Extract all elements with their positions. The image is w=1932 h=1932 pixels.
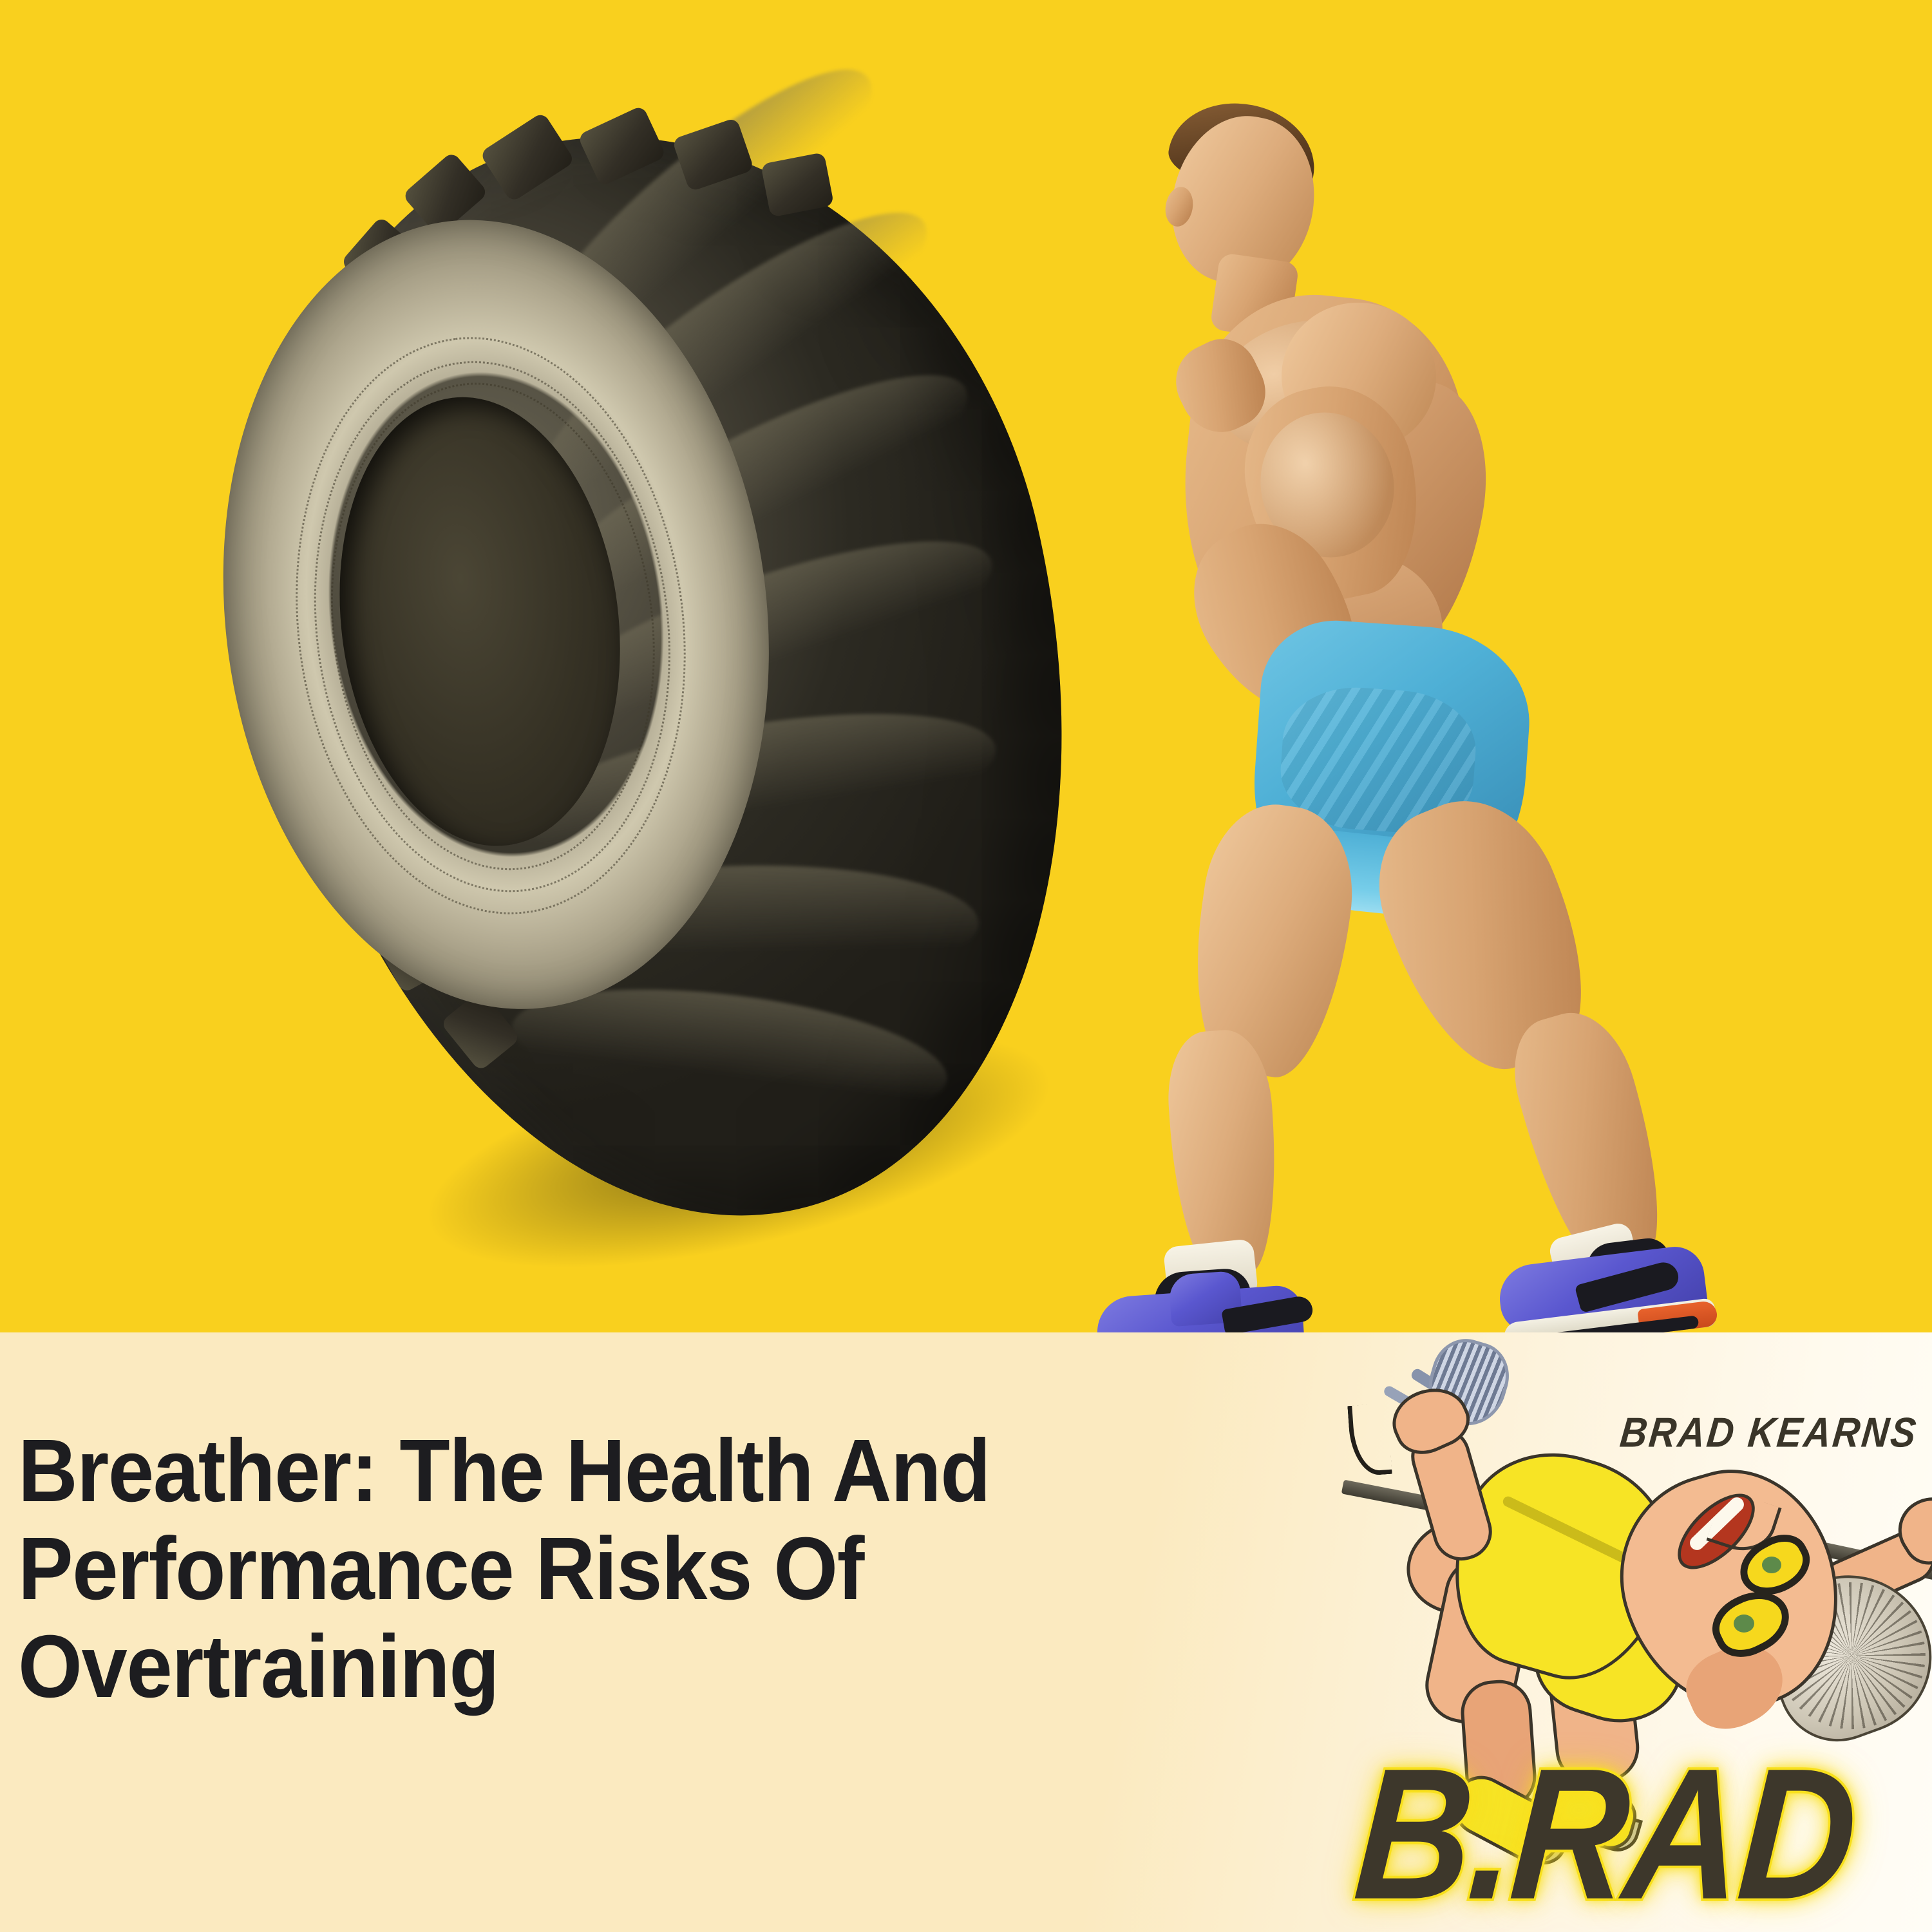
tractor-tire — [95, 14, 1251, 1332]
microphone-cable-icon — [1347, 1403, 1392, 1477]
host-name: BRAD KEARNS — [1618, 1408, 1920, 1457]
bottom-info-bar: Breather: The Health And Performance Ris… — [0, 1332, 1932, 1932]
brad-wordmark: B.RAD — [1349, 1727, 1918, 1932]
cartoon-eye-lower — [1734, 1615, 1754, 1633]
podcast-cover: Breather: The Health And Performance Ris… — [0, 0, 1932, 1932]
tire-flipping-athlete — [1088, 109, 1900, 1320]
brad-kearns-logo[interactable]: BRAD KEARNS — [1327, 1345, 1932, 1925]
hero-photo-panel — [0, 0, 1932, 1332]
episode-title: Breather: The Health And Performance Ris… — [18, 1423, 1072, 1716]
cartoon-eye-upper — [1762, 1557, 1781, 1573]
athlete-front-shoe — [1091, 1261, 1331, 1332]
athlete-back-shoe — [1495, 1229, 1732, 1332]
